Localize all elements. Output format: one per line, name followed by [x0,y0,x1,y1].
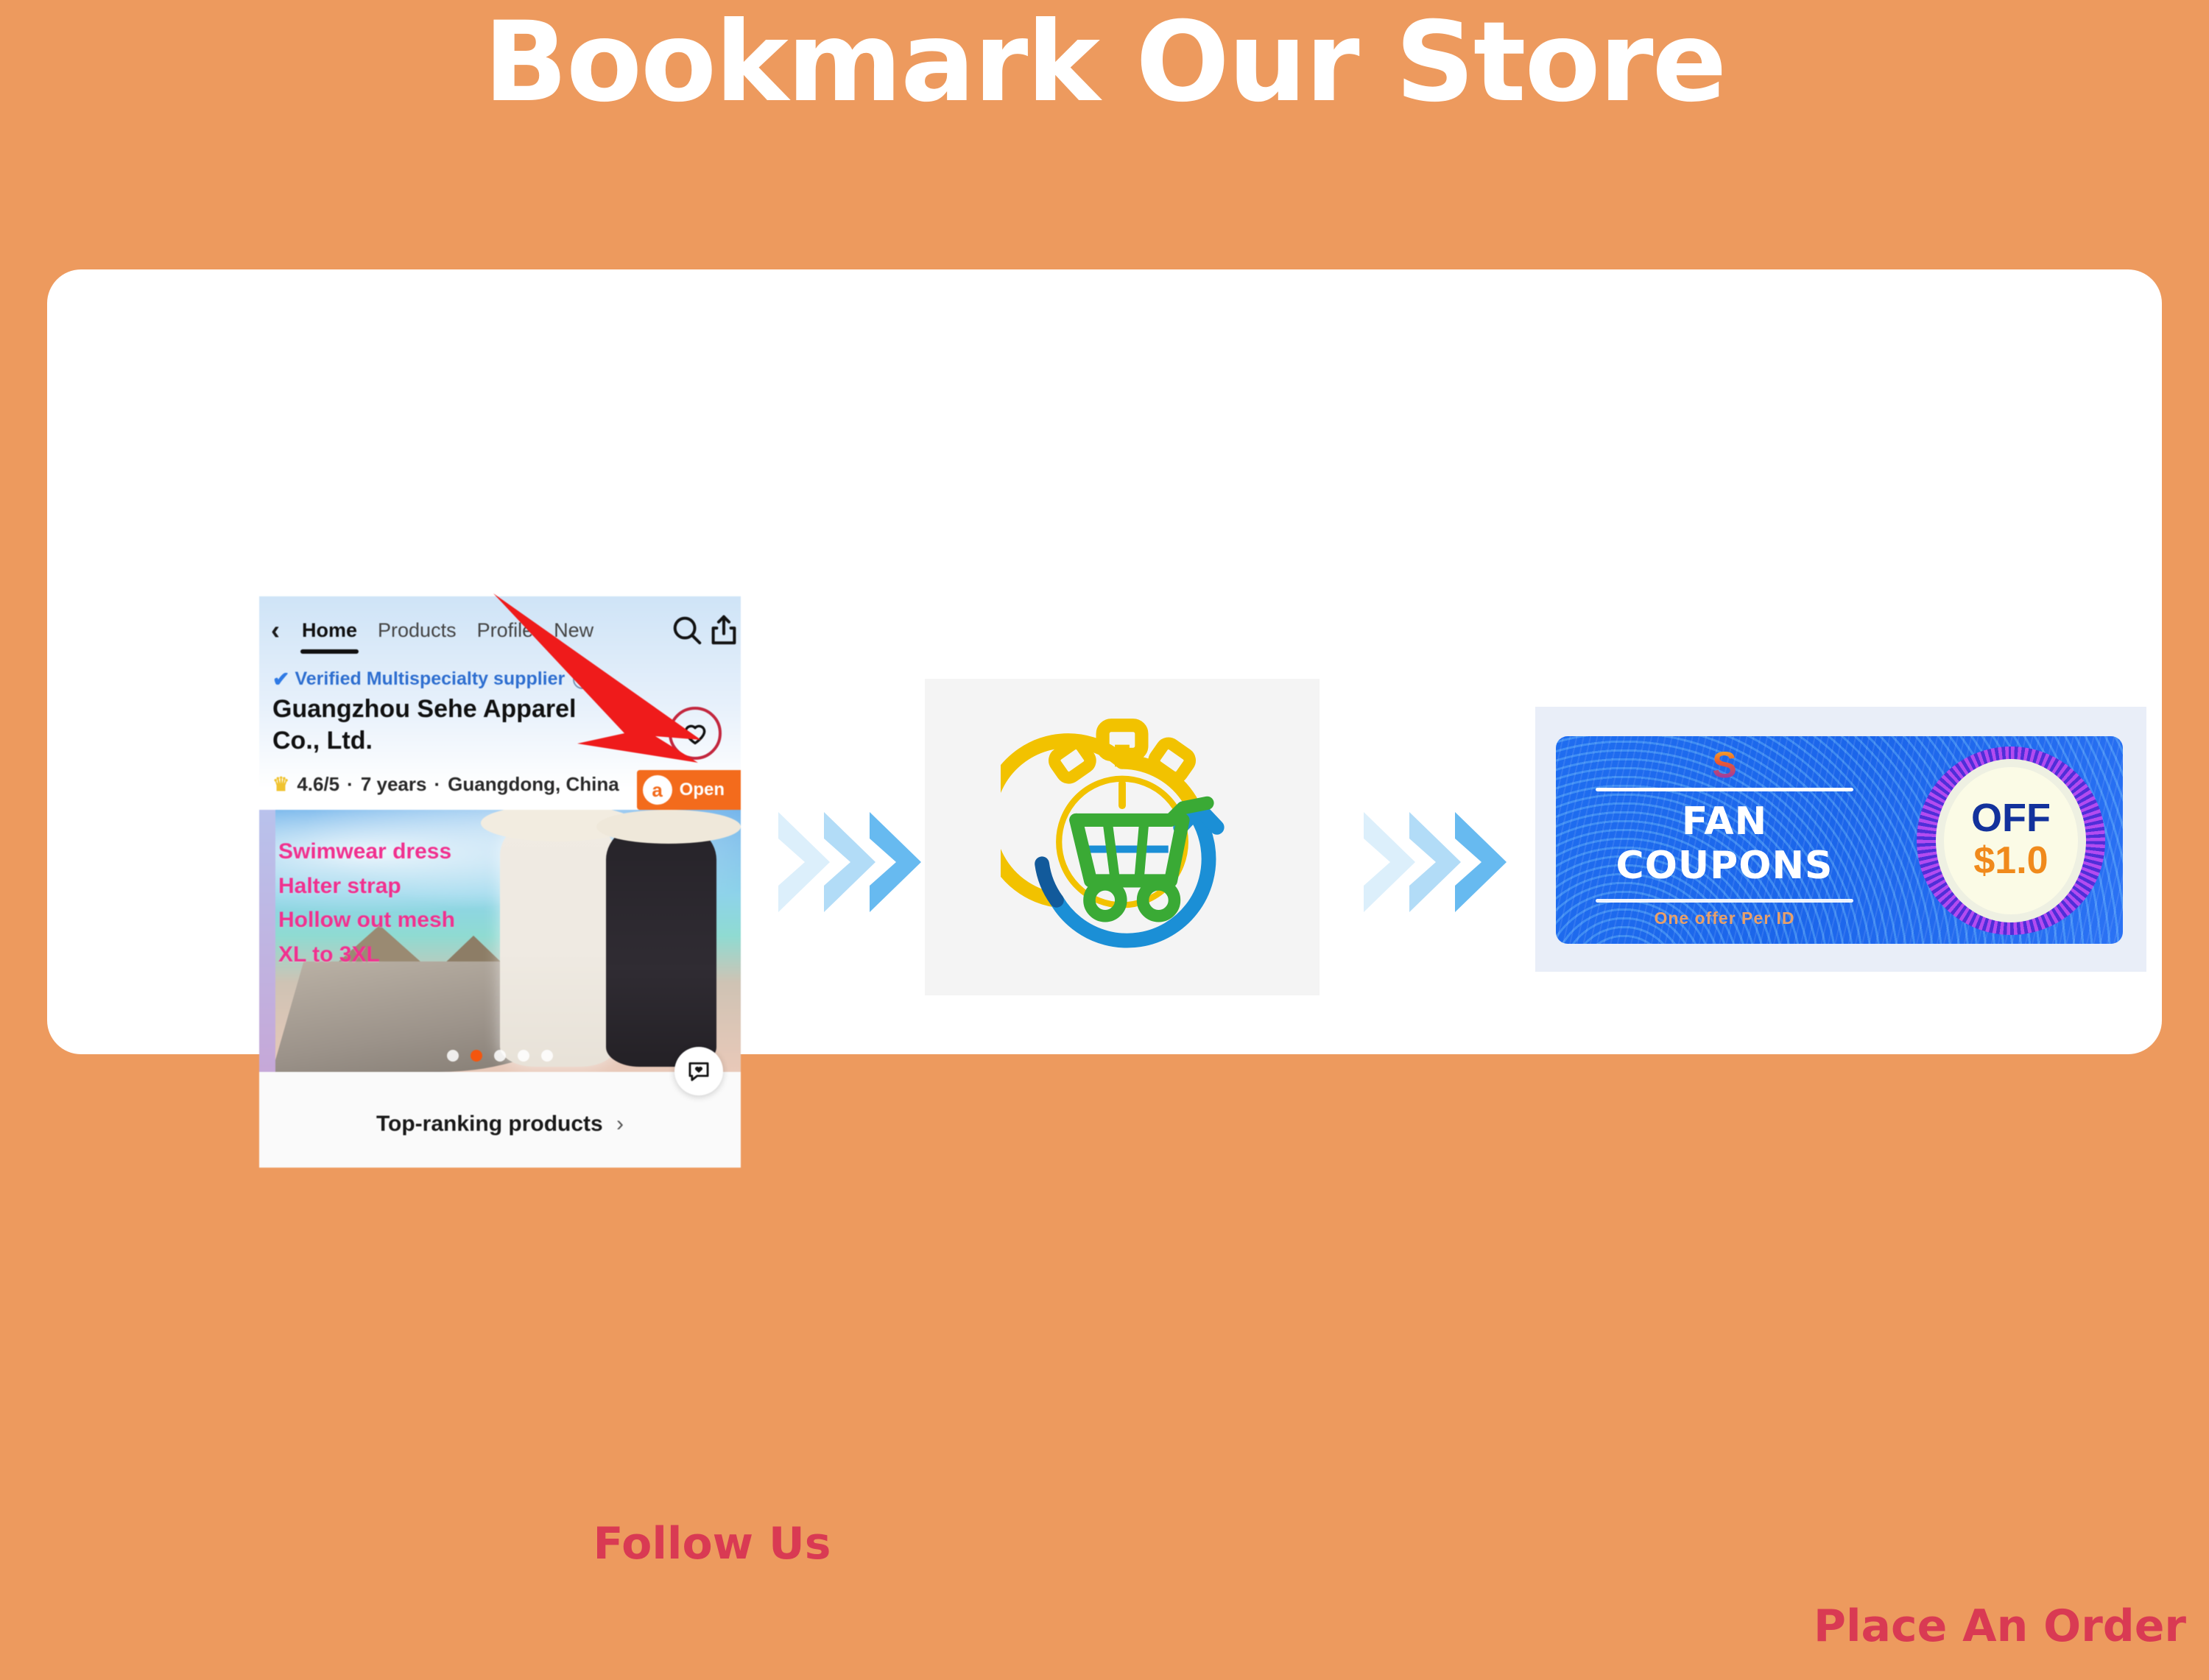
carousel-pagination[interactable] [259,1050,741,1062]
model-black-dress [606,820,716,1067]
store-location: Guangdong, China [448,773,619,796]
store-header: ‹ Home Products Profile New [259,596,741,788]
verified-supplier-badge: ✔ Verified Multispecialty supplier i [272,667,592,691]
overlay-line-2: Halter strap [278,869,455,904]
carousel-dot[interactable] [494,1050,506,1062]
chat-bubble-icon[interactable] [674,1047,723,1095]
step-one-offer-per-id: S FAN COUPONS One offer Per ID OFF $1.0 [1535,707,2146,972]
stopwatch-cart-refresh-icon [1001,716,1244,959]
steps-card: ‹ Home Products Profile New [47,269,2162,1054]
coupon-title-line1: FAN [1581,800,1868,844]
share-icon[interactable] [707,613,741,647]
coupon-divider-top [1596,788,1853,791]
meta-sep-2: · [434,773,440,796]
store-bottom-strip: Top-ranking products › [259,1072,741,1168]
steps-row: ‹ Home Products Profile New [47,269,2162,1054]
search-icon[interactable] [670,613,704,647]
store-years: 7 years [361,773,427,796]
carousel-dot[interactable] [447,1050,459,1062]
app-logo-icon: a [643,775,672,805]
model-white-dress [500,815,616,1067]
tab-profile[interactable]: Profile [467,619,544,642]
store-nav-bar: ‹ Home Products Profile New [259,608,741,652]
model-hat [596,810,741,844]
chevron-right-icon: › [616,1112,624,1136]
tab-home[interactable]: Home [292,619,367,642]
coupon-value-badge: OFF $1.0 [1936,759,2086,922]
overlay-line-4: XL to 3XL [278,938,455,973]
open-app-label: Open [680,780,725,800]
carousel-dot-active[interactable] [471,1050,482,1062]
coupon-frame: S FAN COUPONS One offer Per ID OFF $1.0 [1535,707,2146,972]
overlay-line-3: Hollow out mesh [278,903,455,938]
heart-icon [681,719,709,747]
coupon-title-line2: COUPONS [1581,844,1868,889]
verified-check-icon: ✔ [272,667,289,691]
order-icon-tile [925,679,1320,995]
top-ranking-label: Top-ranking products [376,1112,603,1136]
back-chevron-icon[interactable]: ‹ [259,615,292,646]
store-meta: ♛ 4.6/5 · 7 years · Guangdong, China [272,773,619,796]
double-chevron-right-icon [772,803,934,921]
coupon-divider-bottom [1596,899,1853,903]
product-overlay-text: Swimwear dress Halter strap Hollow out m… [278,835,455,972]
carousel-dot[interactable] [541,1050,553,1062]
meta-sep-1: · [347,773,353,796]
supplier-store-screenshot: ‹ Home Products Profile New [259,589,741,1168]
tab-new-label: New [554,619,593,641]
open-app-button[interactable]: a Open [637,770,741,810]
coupon-subtitle: One offer Per ID [1581,908,1868,928]
fan-coupon-card[interactable]: S FAN COUPONS One offer Per ID OFF $1.0 [1556,736,2123,944]
tab-products[interactable]: Products [367,619,467,642]
image-left-strip [259,810,275,1072]
coupon-off-label: OFF [1971,798,2051,838]
product-carousel-image[interactable]: Swimwear dress Halter strap Hollow out m… [259,810,741,1072]
overlay-line-1: Swimwear dress [278,835,455,869]
coupon-text-block: S FAN COUPONS One offer Per ID [1581,747,1868,928]
tab-new[interactable]: New [543,619,604,642]
info-icon[interactable]: i [573,670,592,689]
double-chevron-right-icon [1358,803,1520,921]
verified-supplier-label: Verified Multispecialty supplier [295,668,565,690]
carousel-dot[interactable] [518,1050,529,1062]
favorite-heart-button[interactable] [669,707,722,760]
coupon-amount: $1.0 [1973,838,2048,883]
coupon-starburst: OFF $1.0 [1917,747,2105,935]
tab-products-label: Products [378,619,457,641]
caption-place-an-order: Place An Order [1803,1600,2197,1652]
page-title: Bookmark Our Store [0,7,2209,118]
store-rating: 4.6/5 [297,773,339,796]
top-ranking-products-link[interactable]: Top-ranking products › [259,1112,741,1137]
tab-profile-label: Profile [477,619,534,641]
store-logo-glyph: S [1581,747,1868,783]
tab-home-label: Home [302,619,357,641]
caption-follow-us: Follow Us [471,1518,953,1570]
step-place-an-order: Place An Order [925,679,1320,995]
crown-icon: ♛ [272,773,289,796]
store-name: Guangzhou Sehe Apparel Co., Ltd. [272,693,611,756]
step-follow-us: ‹ Home Products Profile New [259,589,741,1168]
